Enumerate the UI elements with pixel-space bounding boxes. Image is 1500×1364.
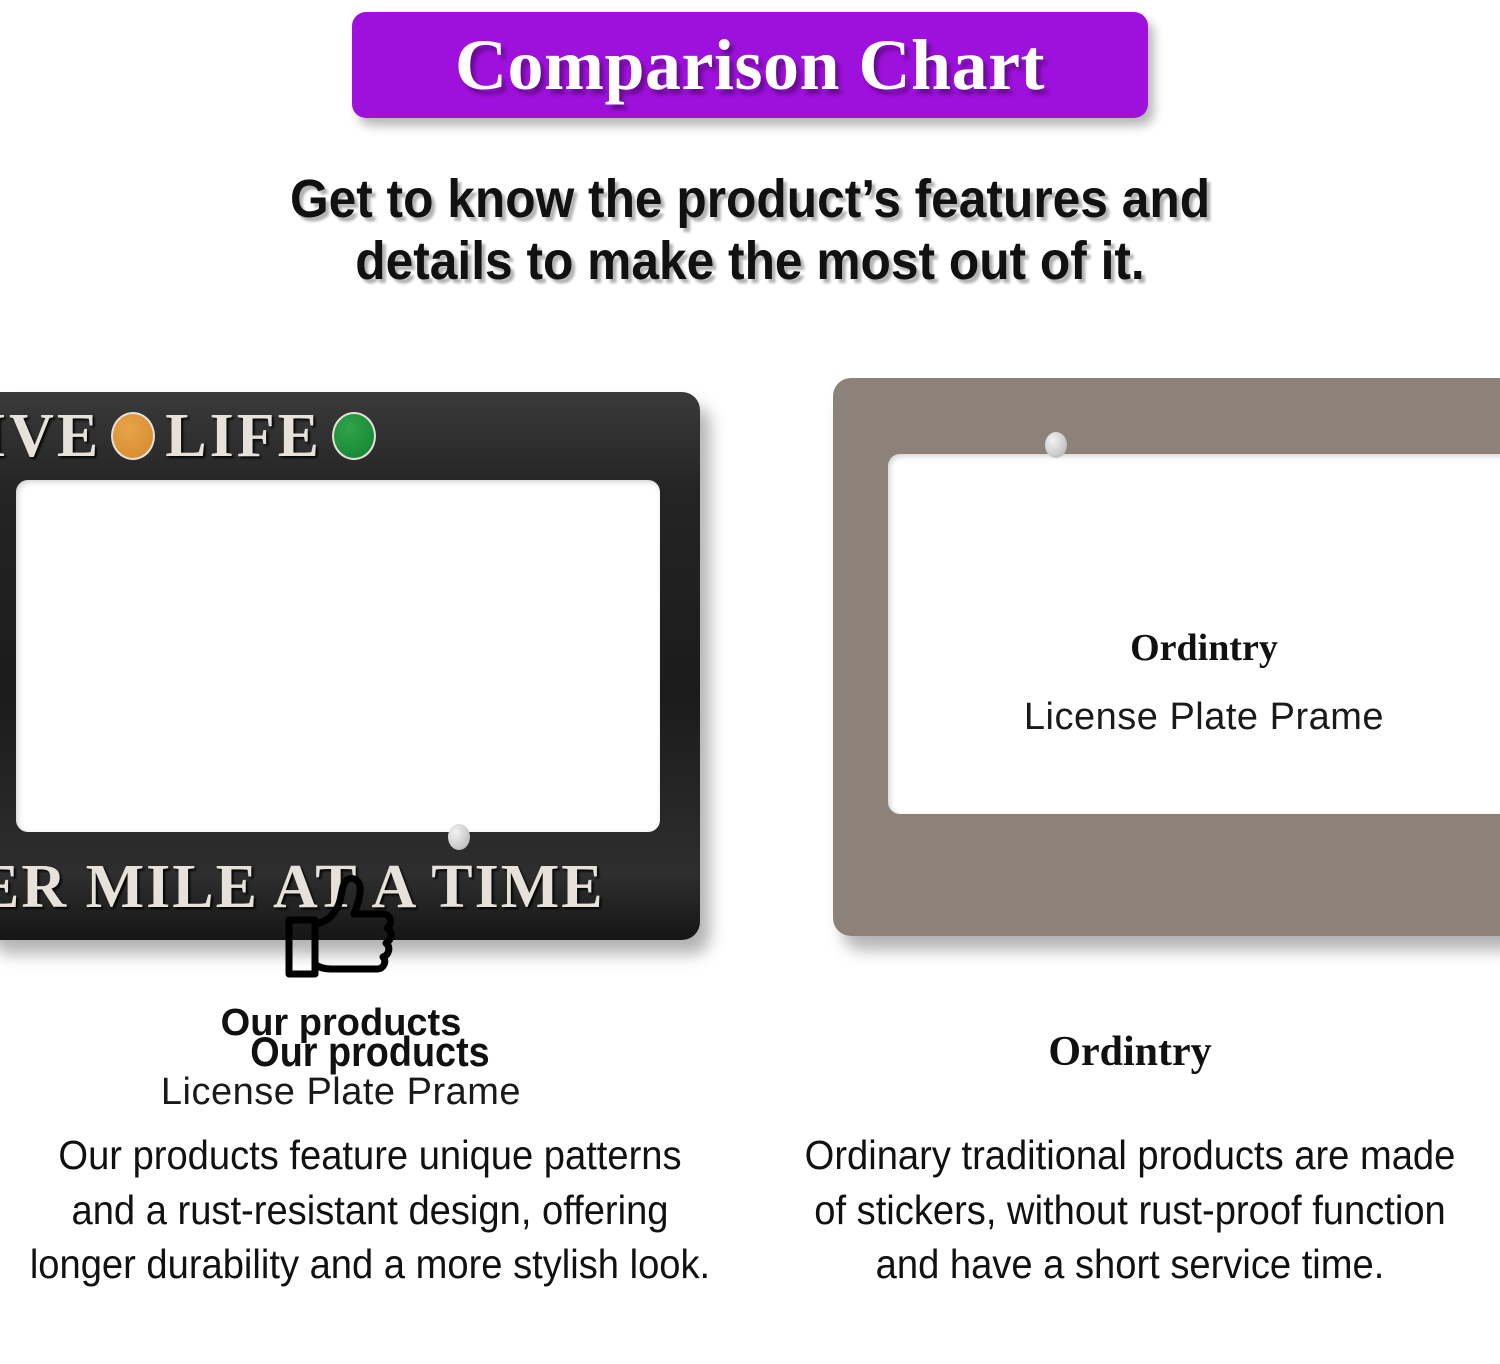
subtitle-line-1: Get to know the product’s features and xyxy=(60,168,1440,230)
our-product-card: Our products License Plate Prame xyxy=(0,872,700,1114)
thumbs-down-icon xyxy=(1146,496,1262,604)
thumbs-up-icon xyxy=(283,872,399,980)
plate-top-word-2: LIFE xyxy=(165,401,322,472)
screw-hole-icon xyxy=(448,824,470,850)
screw-hole-icon xyxy=(1045,432,1067,458)
ordinary-product-license-plate-frame: Ordintry License Plate Prame xyxy=(833,378,1500,936)
ordinary-product-card: Ordintry License Plate Prame xyxy=(888,496,1500,739)
subtitle-line-2: details to make the most out of it. xyxy=(60,230,1440,292)
ordinary-product-description-body: Ordinary traditional products are made o… xyxy=(786,1128,1474,1292)
ordinary-product-description-column: Ordintry Ordinary traditional products a… xyxy=(760,1028,1500,1292)
ordinary-product-card-subtitle: License Plate Prame xyxy=(888,696,1500,739)
plate-top-word-1: IVE xyxy=(0,401,101,472)
ordinary-product-card-title: Ordintry xyxy=(888,626,1500,670)
comparison-chart-banner: Comparison Chart xyxy=(352,12,1148,118)
page-subtitle: Get to know the product’s features and d… xyxy=(60,168,1440,292)
ordinary-product-description-heading: Ordintry xyxy=(760,1028,1500,1076)
green-dot-icon xyxy=(332,412,376,460)
our-product-description-body: Our products feature unique patterns and… xyxy=(26,1128,714,1292)
our-product-card-title: Our products xyxy=(0,1002,700,1045)
page-title: Comparison Chart xyxy=(455,29,1045,101)
orange-dot-icon xyxy=(111,412,155,460)
plate-top-slogan: IVE LIFE xyxy=(0,400,582,472)
our-product-license-plate-frame: IVE LIFE ER MILE AT A TIME Our products … xyxy=(0,392,700,940)
our-product-card-subtitle: License Plate Prame xyxy=(0,1071,700,1114)
left-frame-window xyxy=(16,480,660,832)
